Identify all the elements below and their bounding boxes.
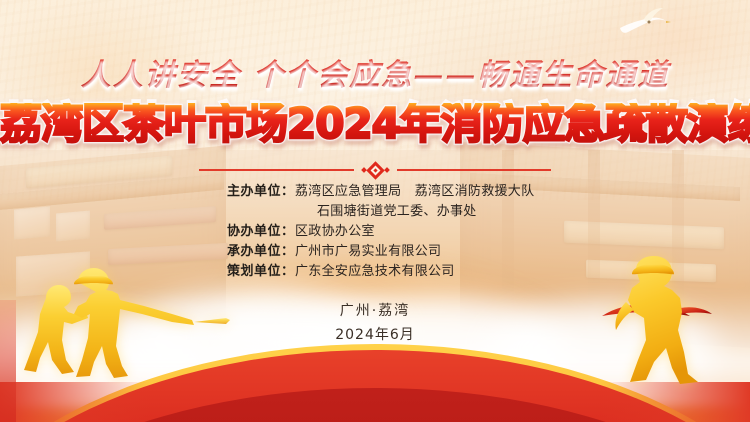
organizer-label: 策划单位 (189, 260, 281, 279)
divider-ornament (362, 164, 389, 177)
organizer-label: 主办单位 (189, 180, 281, 199)
organizer-colon: ： (281, 220, 291, 239)
organizer-value: 广东全安应急技术有限公司 (291, 260, 561, 279)
organizer-value: 区政协办公室 (291, 220, 561, 239)
organizer-value: 荔湾区应急管理局 荔湾区消防救援大队 (291, 180, 561, 199)
poster-slogan: 人人讲安全 个个会应急——畅通生命通道 (0, 50, 750, 94)
diamond-icon (366, 161, 384, 179)
date-text: 2024年6月 (0, 324, 750, 344)
organizer-row: 主办单位 ： 荔湾区应急管理局 荔湾区消防救援大队 (189, 180, 561, 199)
organizer-row: 承办单位 ： 广州市广易实业有限公司 (189, 240, 561, 259)
poster-main-title: 荔湾区茶叶市场2024年消防应急疏散演练 (0, 103, 750, 145)
place-text: 广州·荔湾 (0, 300, 750, 320)
organizer-colon: ： (281, 180, 291, 199)
organizer-label: 承办单位 (189, 240, 281, 259)
organizer-label: 协办单位 (189, 220, 281, 239)
divider-dot-right (384, 167, 390, 173)
organizer-colon: ： (281, 260, 291, 279)
organizer-value: 广州市广易实业有限公司 (291, 240, 561, 259)
divider-line-right (397, 169, 552, 171)
organizer-colon: ： (281, 240, 291, 259)
organizer-value: 石围塘街道党工委、办事处 (291, 200, 561, 219)
poster-content: 人人讲安全 个个会应急——畅通生命通道 荔湾区茶叶市场2024年消防应急疏散演练… (0, 0, 750, 422)
divider-line-left (199, 169, 354, 171)
organizer-row: 协办单位 ： 区政协办公室 (189, 220, 561, 239)
organizer-row: 策划单位 ： 广东全安应急技术有限公司 (189, 260, 561, 279)
poster-canvas: 人人讲安全 个个会应急——畅通生命通道 荔湾区茶叶市场2024年消防应急疏散演练… (0, 0, 750, 422)
organizers-block: 主办单位 ： 荔湾区应急管理局 荔湾区消防救援大队 石围塘街道党工委、办事处 协… (0, 180, 750, 280)
divider (199, 160, 551, 180)
place-date-block: 广州·荔湾 2024年6月 (0, 300, 750, 344)
organizer-row: 石围塘街道党工委、办事处 (189, 200, 561, 219)
